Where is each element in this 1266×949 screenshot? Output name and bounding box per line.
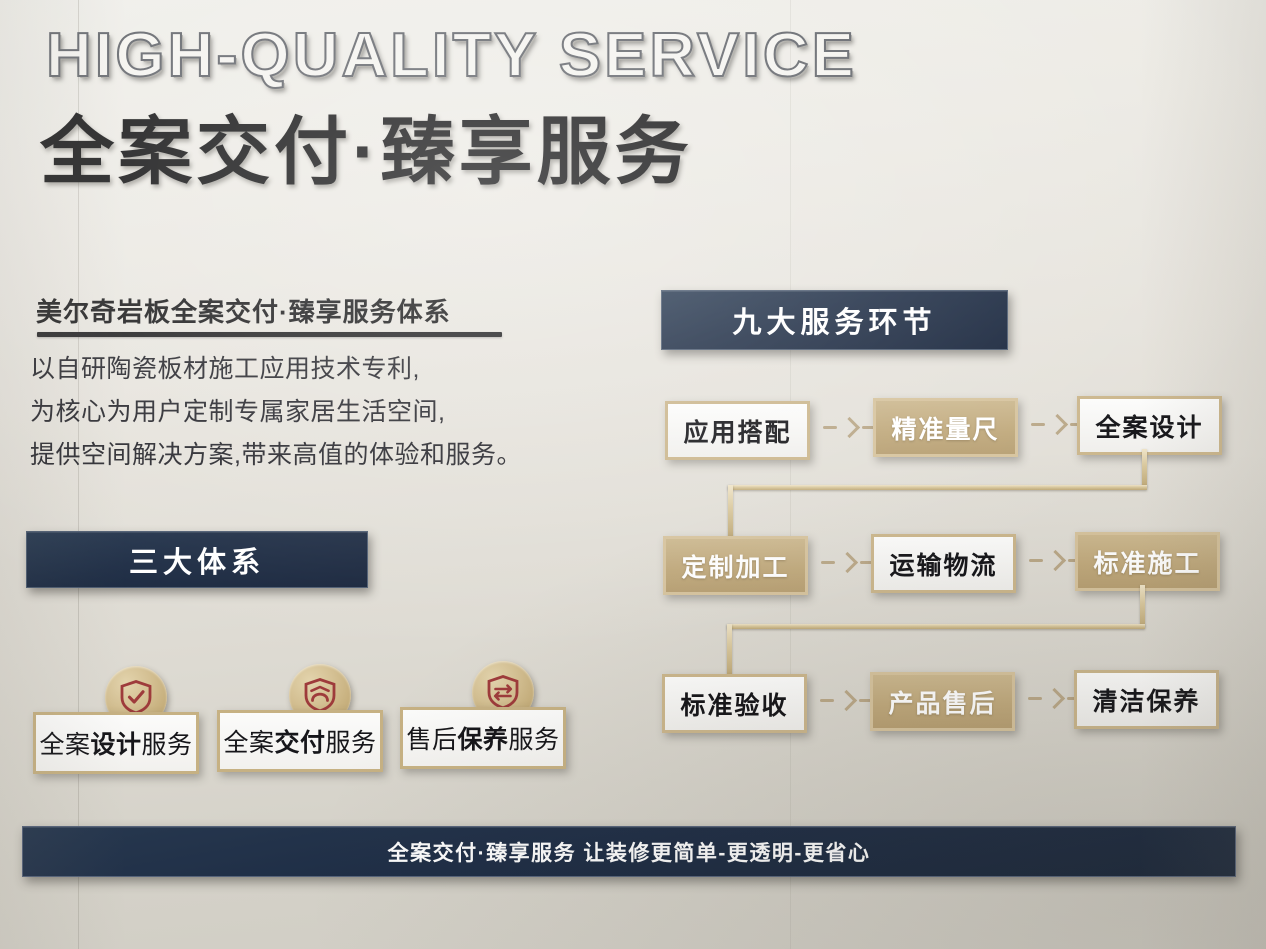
flow-step-card: 全案设计 — [1077, 396, 1222, 455]
flow-step-card: 产品售后 — [870, 672, 1015, 731]
system-card-prefix: 售后 — [406, 720, 457, 756]
left-description: 以自研陶瓷板材施工应用技术专利, 为核心为用户定制专属家居生活空间, 提供空间解… — [30, 348, 630, 477]
flow-step-card: 标准验收 — [662, 674, 807, 733]
chinese-headline: 全案交付·臻享服务 — [40, 92, 693, 199]
system-card: 全案交付服务 — [217, 710, 383, 772]
english-headline: HIGH-QUALITY SERVICE — [46, 20, 857, 91]
three-systems-banner: 三大体系 — [26, 531, 368, 588]
subtitle-underline — [37, 332, 502, 337]
flow-connector — [727, 624, 1145, 629]
flow-connector — [728, 485, 1147, 490]
system-card-suffix: 服务 — [326, 723, 377, 759]
system-card-emphasis: 交付 — [274, 723, 325, 759]
flow-step-card: 标准施工 — [1075, 532, 1220, 591]
flow-step-card: 运输物流 — [871, 534, 1016, 593]
flow-step-card: 定制加工 — [663, 536, 808, 595]
footer-banner: 全案交付·臻享服务 让装修更简单-更透明-更省心 — [22, 826, 1236, 877]
system-card-suffix: 服务 — [509, 720, 560, 756]
description-line-1: 以自研陶瓷板材施工应用技术专利, — [30, 348, 630, 391]
system-card-emphasis: 保养 — [457, 720, 508, 756]
flow-connector — [1142, 449, 1147, 487]
system-card-suffix: 服务 — [142, 725, 193, 761]
signage-wall: HIGH-QUALITY SERVICE 全案交付·臻享服务 美尔奇岩板全案交付… — [0, 0, 1266, 949]
flow-connector — [728, 485, 733, 537]
flow-step-card: 精准量尺 — [873, 398, 1018, 457]
system-card-emphasis: 设计 — [90, 725, 141, 761]
left-subtitle: 美尔奇岩板全案交付·臻享服务体系 — [36, 292, 451, 329]
flow-connector — [727, 624, 732, 676]
flow-step-card: 清洁保养 — [1074, 670, 1219, 729]
flow-step-card: 应用搭配 — [665, 401, 810, 460]
wall-seam-right — [790, 0, 791, 949]
flow-connector — [1140, 585, 1145, 627]
nine-steps-banner: 九大服务环节 — [661, 290, 1008, 350]
system-card: 售后保养服务 — [400, 707, 566, 769]
description-line-3: 提供空间解决方案,带来高值的体验和服务。 — [30, 434, 630, 477]
description-line-2: 为核心为用户定制专属家居生活空间, — [30, 391, 630, 434]
system-card-prefix: 全案 — [39, 725, 90, 761]
system-card: 全案设计服务 — [33, 712, 199, 774]
system-card-prefix: 全案 — [223, 723, 274, 759]
